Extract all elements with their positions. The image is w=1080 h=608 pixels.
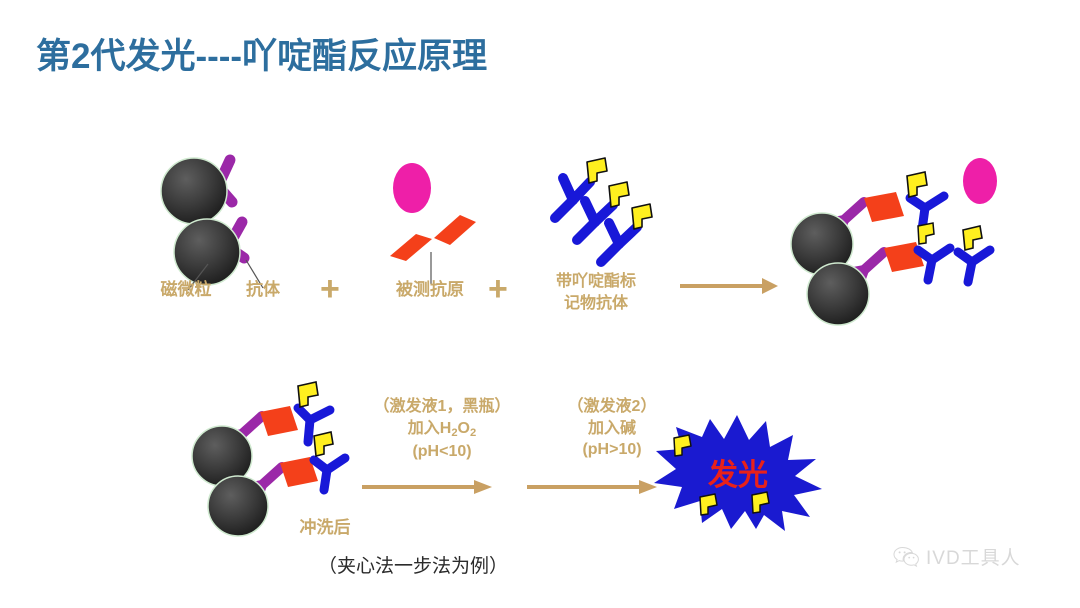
reagent1-text-block: （激发液1，黑瓶） 加入H2O2 (pH<10)	[342, 396, 542, 462]
plus-sign-1: +	[320, 272, 340, 306]
acridinium-tag-3	[632, 204, 652, 229]
reagent1-line2: 加入H2O2	[342, 418, 542, 441]
acridinium-tag-complex-1	[907, 172, 927, 197]
acridinium-tag-1	[587, 158, 607, 183]
tracer-antibody-group	[535, 152, 665, 272]
label-after-wash: 冲洗后	[285, 517, 365, 538]
acridinium-tag-washed-1	[298, 382, 318, 407]
antigen-parallelogram-right	[434, 215, 476, 245]
reaction-arrow-1	[680, 275, 780, 297]
acridinium-tag-2	[609, 182, 629, 207]
reagent1-line1: （激发液1，黑瓶）	[342, 396, 542, 418]
bound-antigen-upper	[864, 192, 904, 222]
reagent1-o: O	[458, 420, 470, 437]
magnetic-bead-lower	[174, 219, 240, 285]
antibody-blue-washed-lower	[314, 458, 345, 490]
reagent1-sub2: 2	[470, 426, 476, 438]
label-antigen: 被测抗原	[382, 279, 478, 300]
burst-label: 发光	[707, 459, 768, 492]
antigen-group	[382, 160, 492, 285]
wechat-icon	[893, 546, 919, 568]
magnetic-bead-washed-lower	[208, 476, 268, 536]
magnetic-bead-complex-lower	[807, 263, 869, 325]
antigen-parallelogram-left	[390, 234, 432, 261]
magnetic-bead-antibody-group	[150, 140, 330, 300]
antigen-ellipse	[393, 163, 431, 213]
slide-caption: （夹心法一步法为例）	[318, 551, 508, 578]
free-antigen-ellipse	[963, 158, 997, 204]
slide-canvas: 第2代发光----吖啶酯反应原理 磁微粒 抗体	[0, 0, 1080, 608]
label-tracer-antibody: 带吖啶酯标 记物抗体	[526, 271, 666, 314]
luminescence-burst: 发光	[652, 413, 822, 531]
washed-complex-group	[190, 382, 365, 532]
reaction-arrow-2	[362, 477, 494, 497]
magnetic-bead-upper	[161, 158, 227, 224]
reaction-arrow-3	[527, 477, 659, 497]
watermark: IVD工具人	[893, 543, 1021, 570]
acridinium-tag-complex-2	[918, 223, 934, 244]
washed-antigen-upper	[260, 406, 298, 436]
antibody-blue-3	[601, 223, 637, 262]
label-tracer-line1: 带吖啶酯标	[526, 271, 666, 293]
antibody-blue-free	[958, 250, 990, 282]
immune-complex-group	[780, 150, 1010, 325]
label-tracer-line2: 记物抗体	[526, 293, 666, 315]
watermark-text: IVD工具人	[926, 543, 1021, 570]
label-antibody: 抗体	[232, 279, 294, 300]
plus-sign-2: +	[488, 272, 508, 306]
acridinium-tag-complex-3	[963, 226, 982, 250]
acridinium-tag-washed-2	[314, 432, 333, 456]
reagent1-line3: (pH<10)	[342, 441, 542, 463]
reagent1-h: 加入H	[408, 420, 452, 437]
page-title: 第2代发光----吖啶酯反应原理	[36, 38, 487, 77]
label-magnetic-bead: 磁微粒	[148, 279, 224, 300]
